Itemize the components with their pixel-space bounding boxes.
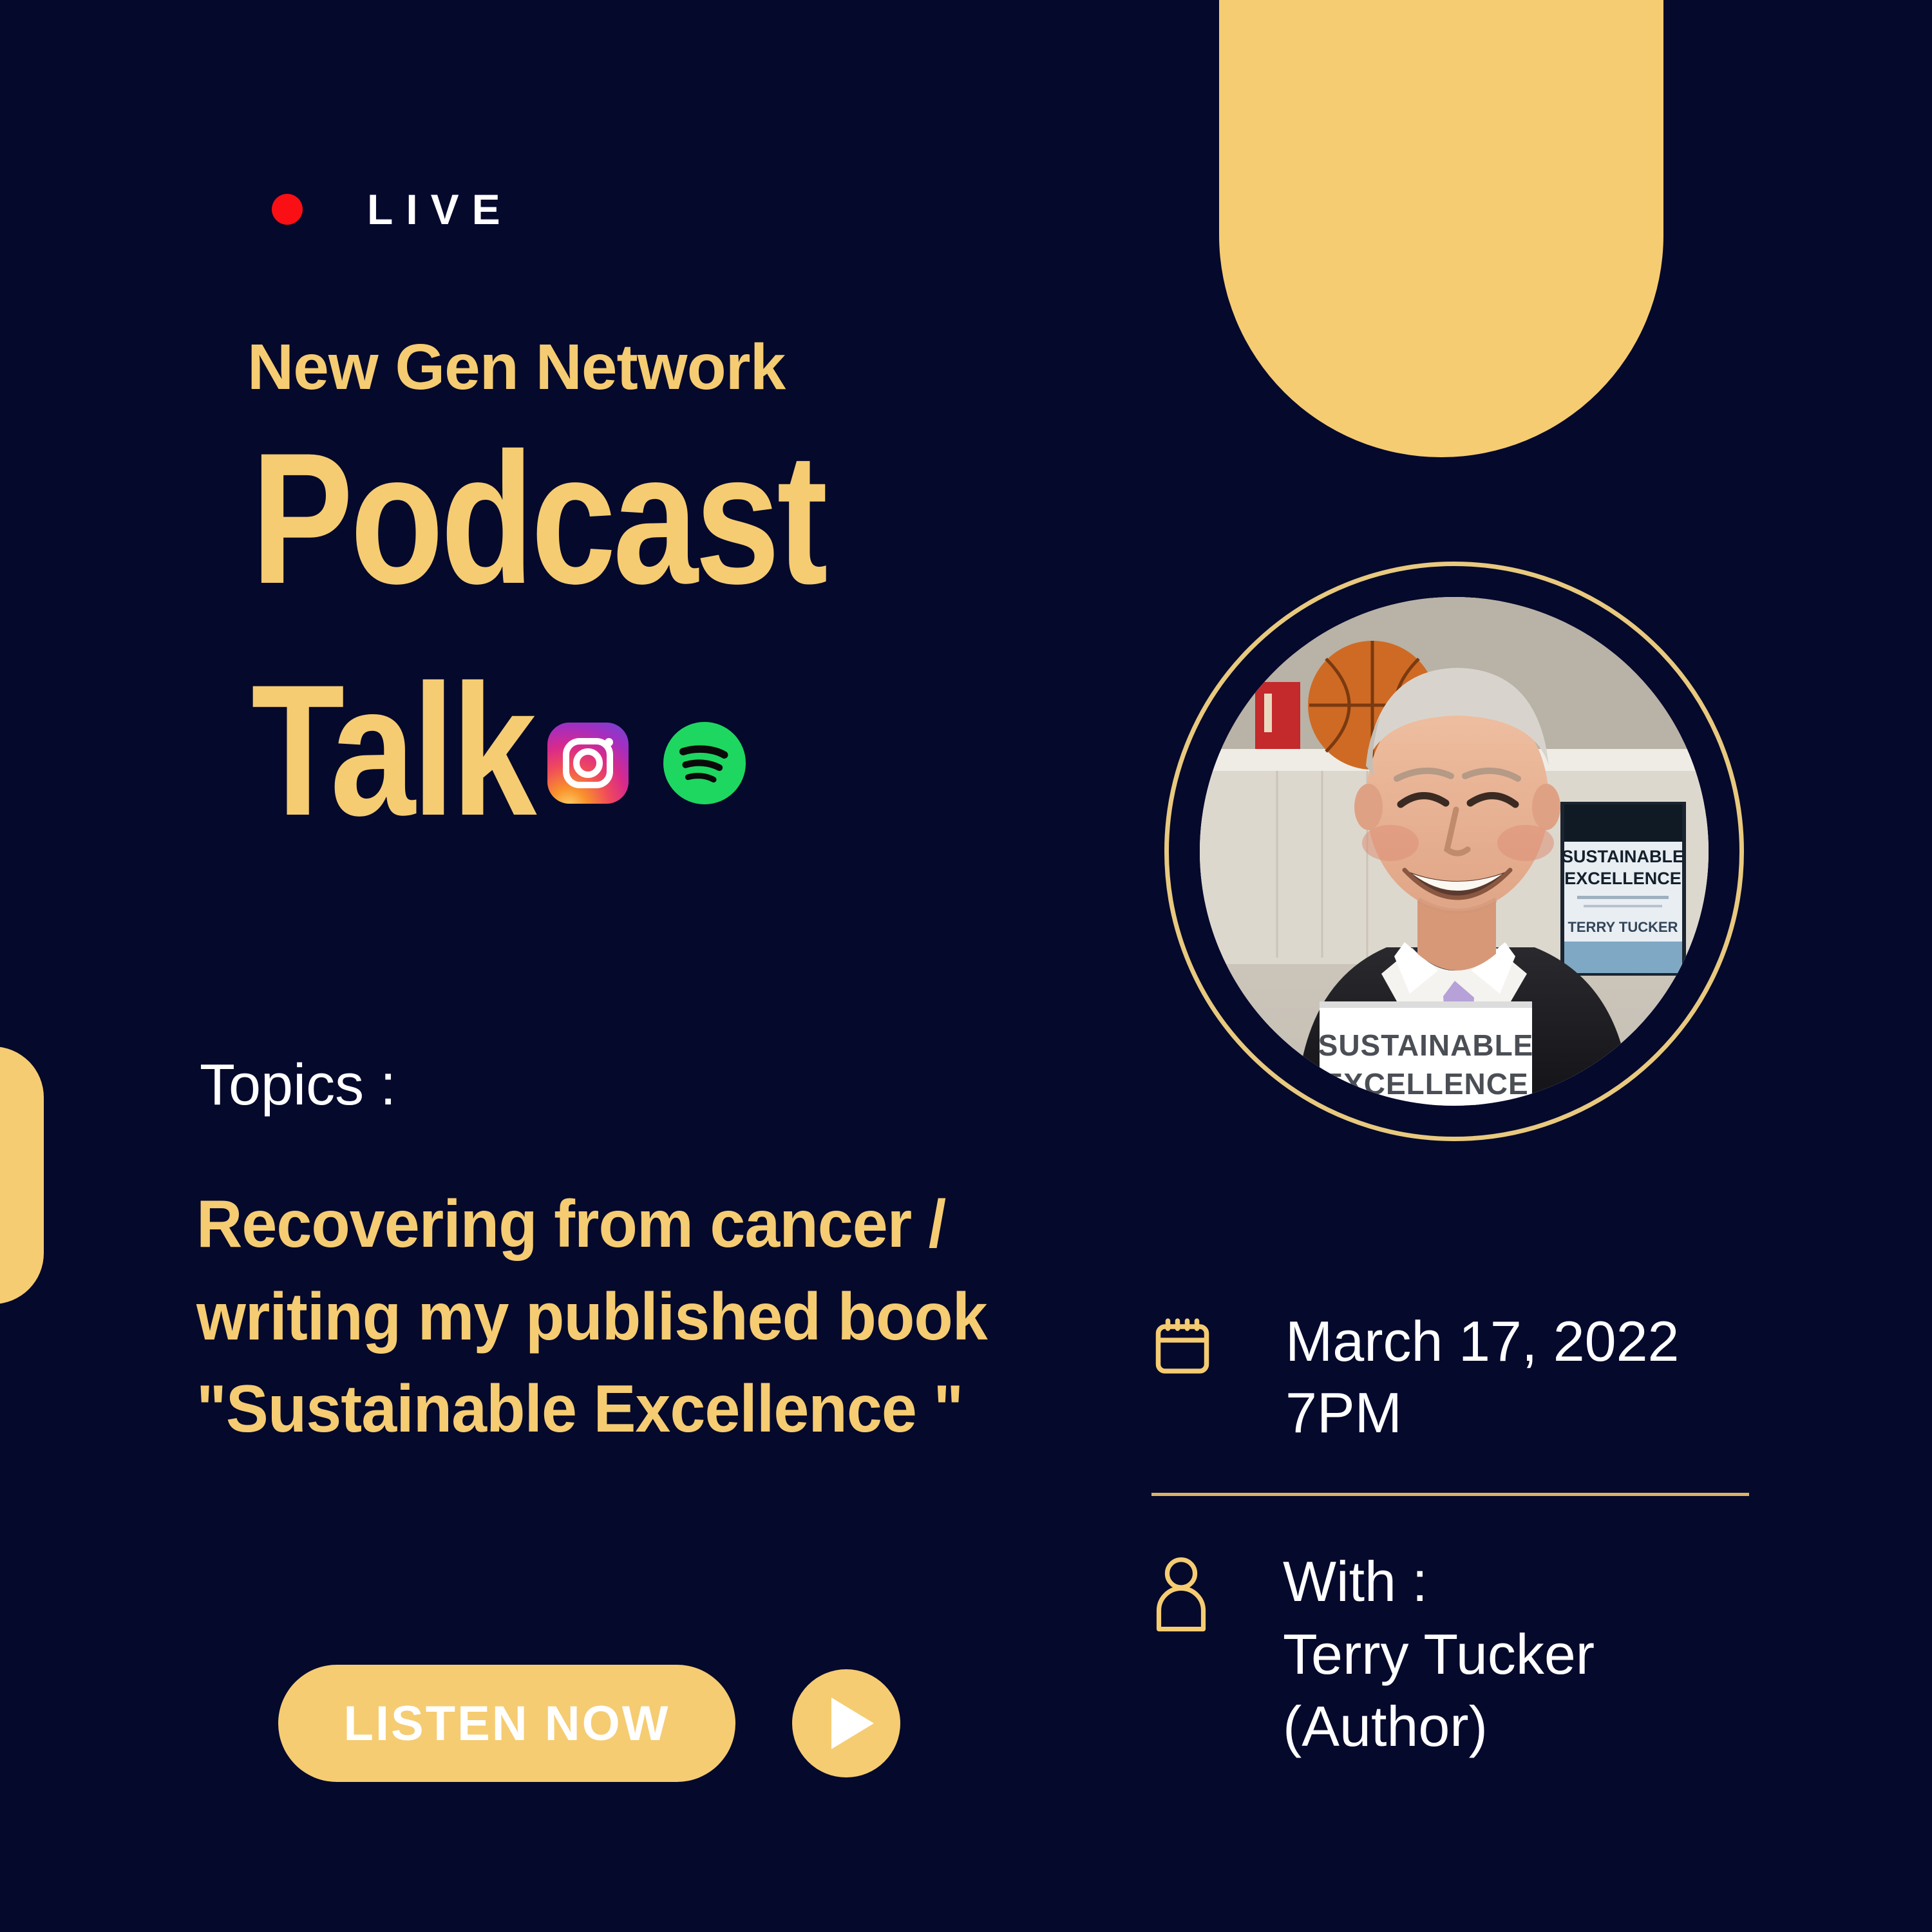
event-guest-row: With : Terry Tucker (Author) [1151, 1546, 1595, 1763]
instagram-icon[interactable] [547, 723, 629, 804]
title-line-podcast: Podcast [251, 425, 825, 612]
svg-text:EXCELLENCE: EXCELLENCE [1323, 1067, 1528, 1101]
svg-text:SUSTAINABLE: SUSTAINABLE [1318, 1028, 1534, 1062]
event-date-row: March 17, 2022 7PM [1151, 1306, 1680, 1449]
live-label: LIVE [367, 188, 513, 231]
calendar-icon [1151, 1315, 1213, 1377]
instagram-lens-shape [573, 748, 603, 778]
live-dot-icon [272, 194, 303, 225]
topics-label: Topics : [200, 1056, 396, 1114]
guest-portrait-photo: SUSTAINABLE EXCELLENCE TERRY TUCKER [1200, 597, 1709, 1106]
cta-row: LISTEN NOW [278, 1665, 900, 1782]
event-date-time: March 17, 2022 7PM [1285, 1306, 1680, 1449]
portrait-frame: SUSTAINABLE EXCELLENCE TERRY TUCKER [1164, 562, 1744, 1141]
listen-now-button[interactable]: LISTEN NOW [278, 1665, 735, 1782]
section-divider [1151, 1493, 1749, 1496]
top-gold-column-decoration [1219, 0, 1663, 457]
live-badge: LIVE [272, 188, 513, 231]
social-icons [547, 722, 746, 804]
instagram-dot-shape [605, 738, 613, 746]
svg-text:SUSTAINABLE: SUSTAINABLE [1562, 847, 1684, 866]
title-row-talk: Talk [251, 657, 746, 844]
podcast-promo-poster: LIVE New Gen Network Podcast Talk Topics… [0, 0, 1932, 1932]
person-icon [1151, 1556, 1211, 1632]
network-name: New Gen Network [247, 335, 785, 399]
topics-body: Recovering from cancer / writing my publ… [196, 1179, 1072, 1456]
spotify-icon[interactable] [663, 722, 746, 804]
left-gold-tab-decoration [0, 1046, 44, 1304]
event-guest-block: With : Terry Tucker (Author) [1283, 1546, 1595, 1763]
title-line-talk: Talk [251, 657, 534, 844]
svg-text:EXCELLENCE: EXCELLENCE [1564, 869, 1681, 888]
play-button[interactable] [792, 1669, 900, 1777]
play-icon [831, 1698, 874, 1749]
svg-text:TERRY TUCKER: TERRY TUCKER [1567, 919, 1678, 935]
